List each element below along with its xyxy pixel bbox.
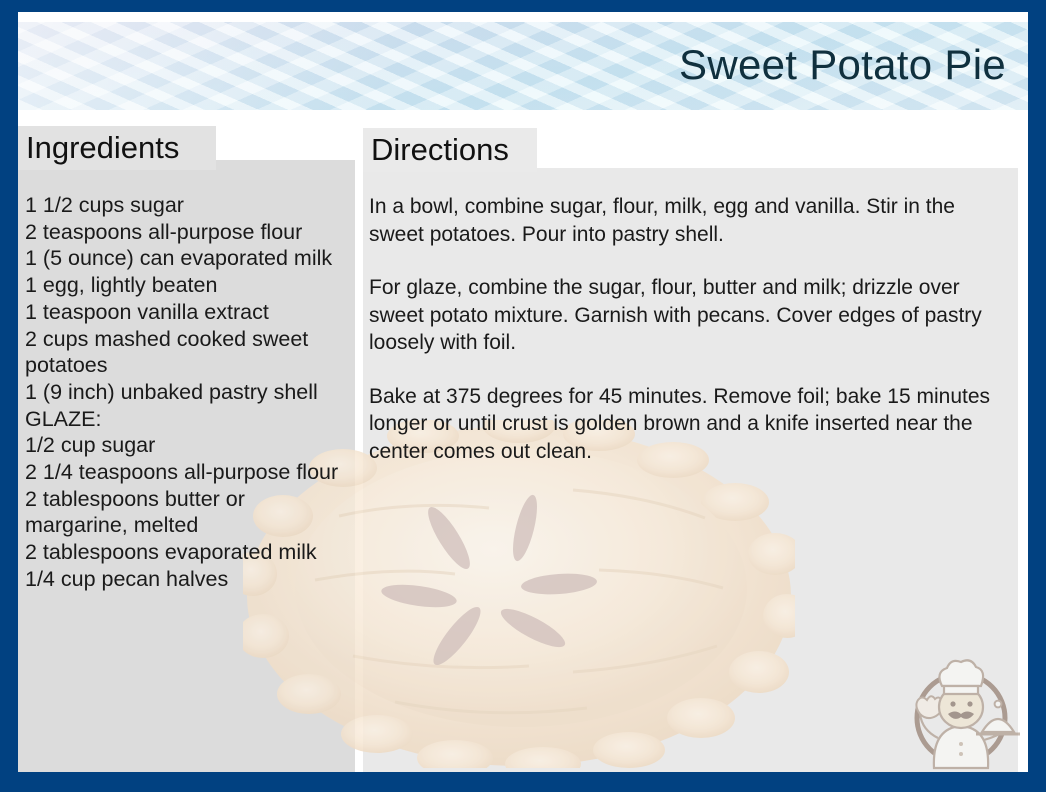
direction-step: Bake at 375 degrees for 45 minutes. Remo… — [369, 383, 1009, 466]
cloche-knob — [995, 701, 1002, 708]
list-item: 2 teaspoons all-purpose flour — [25, 219, 347, 246]
page-title: Sweet Potato Pie — [679, 41, 1006, 89]
list-item: 1 (9 inch) unbaked pastry shell — [25, 379, 347, 406]
list-item: 1 1/2 cups sugar — [25, 192, 347, 219]
list-item: 2 tablespoons butter or margarine, melte… — [25, 486, 347, 539]
list-item: 2 cups mashed cooked sweet potatoes — [25, 326, 347, 379]
direction-step: For glaze, combine the sugar, flour, but… — [369, 274, 1009, 357]
direction-step: In a bowl, combine sugar, flour, milk, e… — [369, 193, 1009, 248]
directions-heading: Directions — [363, 128, 537, 172]
list-item: 2 1/4 teaspoons all-purpose flour — [25, 459, 347, 486]
list-item: 1 (5 ounce) can evaporated milk — [25, 245, 347, 272]
title-banner: Sweet Potato Pie — [18, 22, 1028, 110]
ingredients-heading: Ingredients — [18, 126, 216, 170]
directions-body: In a bowl, combine sugar, flour, milk, e… — [369, 193, 1009, 465]
list-item: GLAZE: — [25, 406, 347, 433]
ingredients-list: 1 1/2 cups sugar 2 teaspoons all-purpose… — [25, 192, 347, 593]
chef-body — [934, 726, 988, 768]
cloche-dome — [982, 719, 1014, 732]
list-item: 2 tablespoons evaporated milk — [25, 539, 347, 566]
recipe-card: Sweet Potato Pie Ingredients 1 1/2 cups … — [0, 0, 1046, 792]
chef-with-cloche-logo — [898, 652, 1024, 776]
list-item: 1 teaspoon vanilla extract — [25, 299, 347, 326]
list-item: 1 egg, lightly beaten — [25, 272, 347, 299]
chef-toque — [939, 660, 983, 686]
toque-band — [944, 686, 978, 694]
list-item: 1/4 cup pecan halves — [25, 566, 347, 593]
list-item: 1/2 cup sugar — [25, 432, 347, 459]
